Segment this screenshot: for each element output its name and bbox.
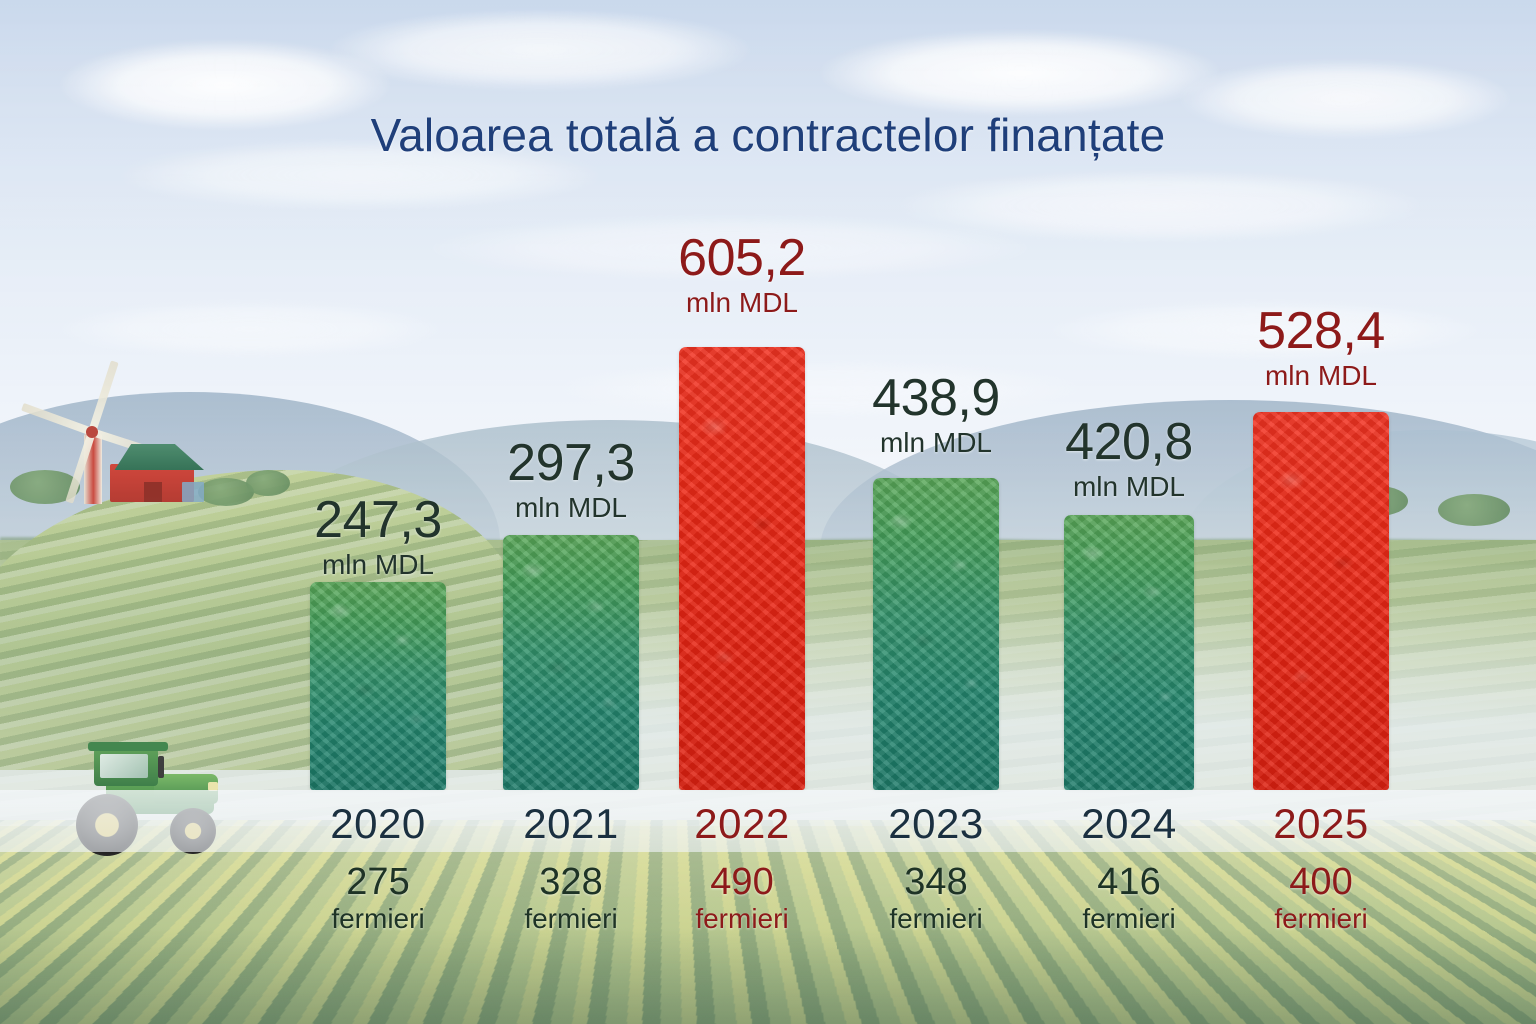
- value-unit: mln MDL: [1019, 473, 1239, 502]
- farmers-word: fermieri: [1211, 904, 1431, 934]
- farmers-word: fermieri: [268, 904, 488, 934]
- year-label-2022: 2022: [632, 800, 852, 848]
- value-unit: mln MDL: [461, 494, 681, 523]
- infographic-canvas: Valoarea totală a contractelor finanțate…: [0, 0, 1536, 1024]
- bar-2023[interactable]: [873, 478, 999, 790]
- value-number: 438,9: [826, 372, 1046, 425]
- value-label-2023: 438,9 mln MDL: [826, 372, 1046, 458]
- bar-2025[interactable]: [1253, 412, 1389, 790]
- farmers-count: 348: [826, 862, 1046, 902]
- farmers-word: fermieri: [1019, 904, 1239, 934]
- value-number: 247,3: [268, 494, 488, 547]
- value-label-2020: 247,3 mln MDL: [268, 494, 488, 580]
- farmers-label-2022: 490 fermieri: [632, 862, 852, 934]
- farmers-label-2025: 400 fermieri: [1211, 862, 1431, 934]
- value-unit: mln MDL: [632, 289, 852, 318]
- farmers-count: 400: [1211, 862, 1431, 902]
- value-unit: mln MDL: [826, 429, 1046, 458]
- bar-2020[interactable]: [310, 582, 446, 790]
- value-number: 420,8: [1019, 416, 1239, 469]
- value-unit: mln MDL: [268, 551, 488, 580]
- farmers-count: 416: [1019, 862, 1239, 902]
- farmers-count: 490: [632, 862, 852, 902]
- farmers-count: 275: [268, 862, 488, 902]
- farmers-label-2024: 416 fermieri: [1019, 862, 1239, 934]
- bar-2021[interactable]: [503, 535, 639, 790]
- value-label-2022: 605,2 mln MDL: [632, 232, 852, 318]
- bar-2024[interactable]: [1064, 515, 1194, 790]
- value-unit: mln MDL: [1211, 362, 1431, 391]
- value-number: 528,4: [1211, 305, 1431, 358]
- year-label-2020: 2020: [268, 800, 488, 848]
- bar-chart: 247,3 mln MDL 297,3 mln MDL 605,2 mln MD…: [0, 0, 1536, 1024]
- value-number: 605,2: [632, 232, 852, 285]
- year-label-2023: 2023: [826, 800, 1046, 848]
- farmers-label-2023: 348 fermieri: [826, 862, 1046, 934]
- year-label-2025: 2025: [1211, 800, 1431, 848]
- value-label-2021: 297,3 mln MDL: [461, 437, 681, 523]
- year-label-2024: 2024: [1019, 800, 1239, 848]
- value-number: 297,3: [461, 437, 681, 490]
- farmers-word: fermieri: [826, 904, 1046, 934]
- bar-2022[interactable]: [679, 347, 805, 790]
- farmers-label-2020: 275 fermieri: [268, 862, 488, 934]
- value-label-2024: 420,8 mln MDL: [1019, 416, 1239, 502]
- farmers-word: fermieri: [632, 904, 852, 934]
- value-label-2025: 528,4 mln MDL: [1211, 305, 1431, 391]
